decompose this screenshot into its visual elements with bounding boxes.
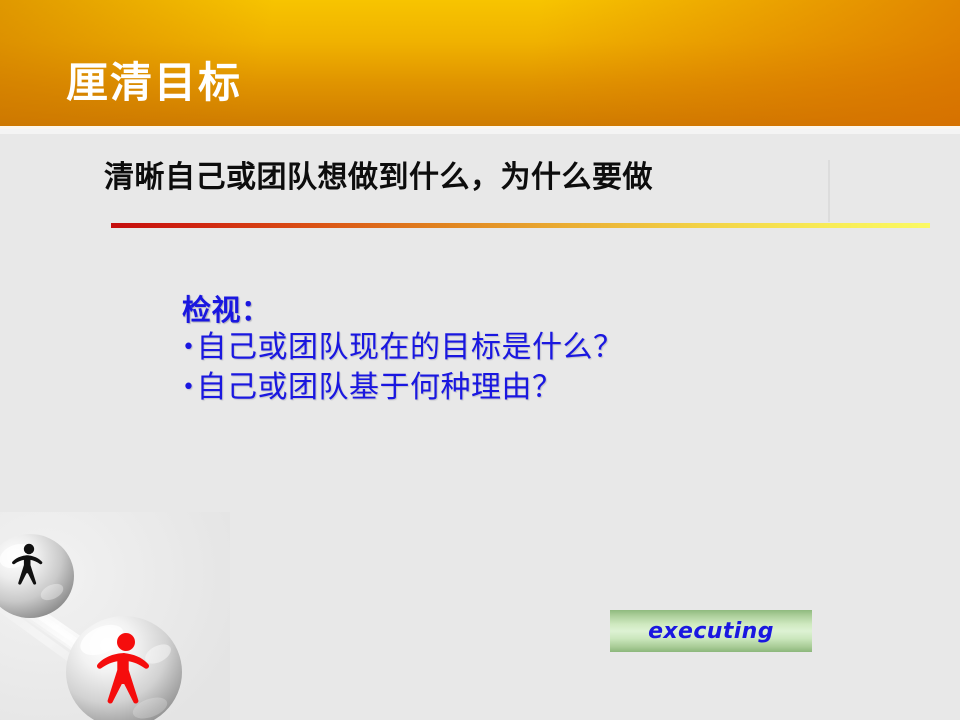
slide-subtitle: 清晰自己或团队想做到什么，为什么要做 [104, 160, 653, 196]
spheres-artwork-svg [0, 512, 230, 720]
content-block: 检视： •自己或团队现在的目标是什么？ •自己或团队基于何种理由？ [182, 292, 623, 407]
executing-badge: executing [610, 610, 812, 652]
gradient-divider-rule [111, 223, 930, 228]
slide-canvas: 厘清目标 清晰自己或团队想做到什么，为什么要做 检视： •自己或团队现在的目标是… [0, 0, 960, 720]
content-heading: 检视： [182, 292, 623, 328]
spheres-decoration-image [0, 512, 230, 720]
list-item-label: 自己或团队基于何种理由？ [196, 370, 562, 405]
list-item: •自己或团队现在的目标是什么？ [182, 328, 623, 368]
executing-badge-label: executing [610, 610, 812, 652]
list-item-label: 自己或团队现在的目标是什么？ [196, 330, 623, 365]
bullet-dot-icon: • [182, 333, 195, 362]
page-title: 厘清目标 [66, 62, 242, 104]
faint-vertical-divider [828, 160, 830, 222]
bullet-dot-icon: • [182, 373, 195, 402]
list-item: •自己或团队基于何种理由？ [182, 368, 623, 408]
